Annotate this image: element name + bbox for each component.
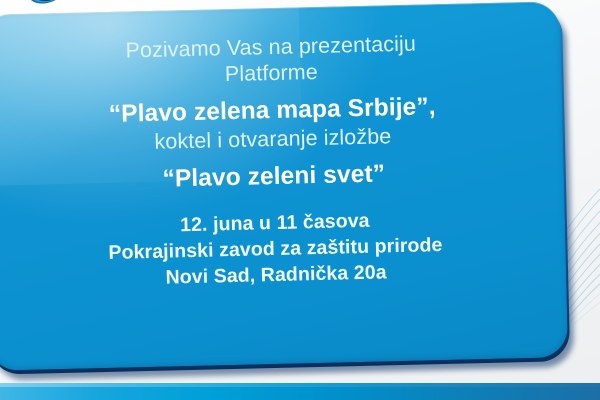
bottom-gradient-bar (0, 383, 600, 400)
bottom-bar-highlight (0, 383, 600, 387)
leaf-accent-icon (28, 0, 62, 10)
card-surface: Pozivamo Vas na prezentaciju Platforme “… (0, 1, 568, 371)
invitation-poster: Pozivamo Vas na prezentaciju Platforme “… (0, 0, 600, 400)
invitation-text-block: Pozivamo Vas na prezentaciju Platforme “… (0, 27, 566, 295)
invitation-card: Pozivamo Vas na prezentaciju Platforme “… (0, 1, 568, 371)
